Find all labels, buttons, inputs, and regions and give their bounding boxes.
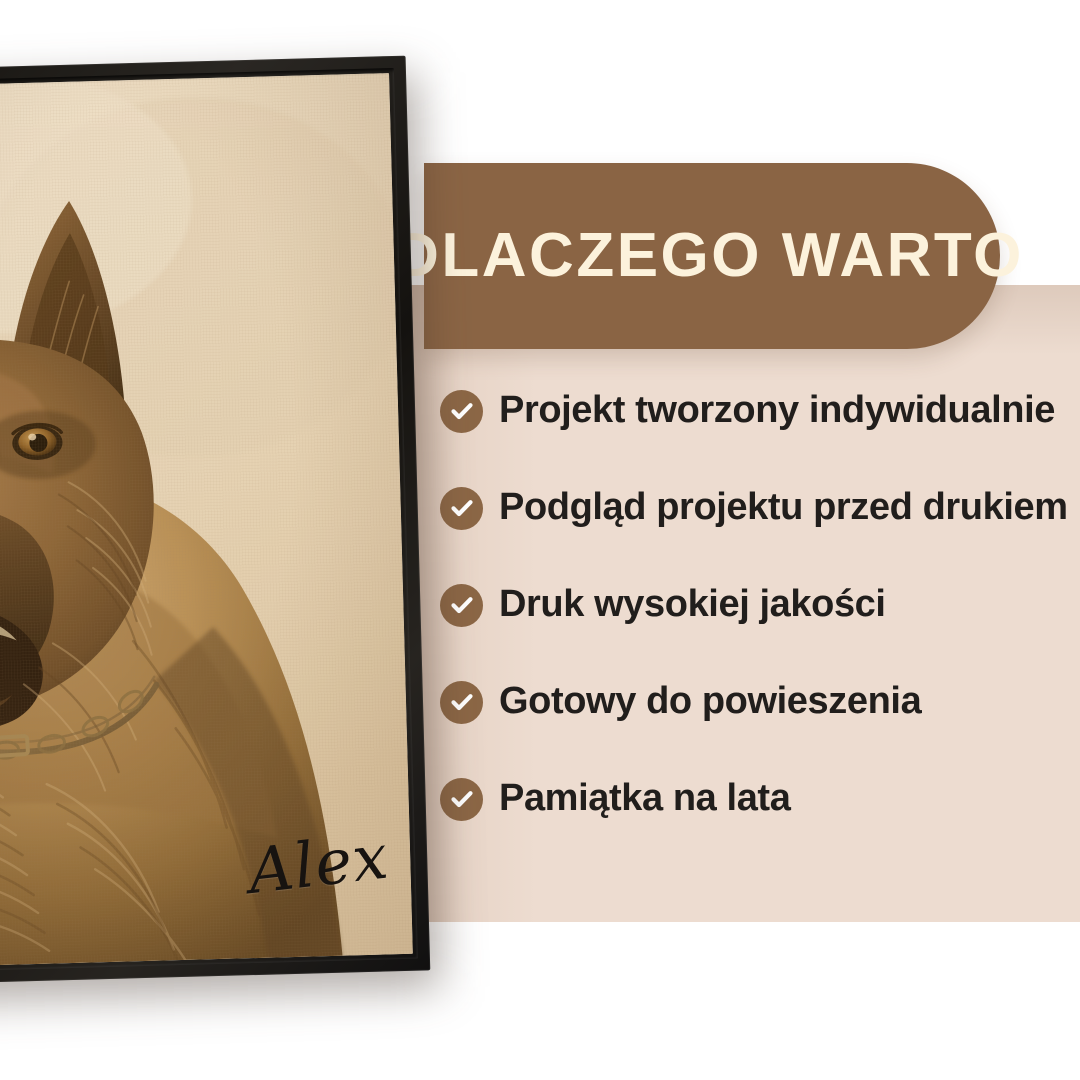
picture-frame: Alex [0, 56, 430, 985]
benefits-list: Projekt tworzony indywidualnie Podgląd p… [440, 386, 1070, 824]
list-item: Druk wysokiej jakości [440, 580, 1070, 630]
list-item: Gotowy do powieszenia [440, 677, 1070, 727]
benefit-label: Druk wysokiej jakości [499, 585, 886, 625]
check-circle-icon [440, 681, 483, 724]
page-title: DLACZEGO WARTO [376, 225, 1048, 287]
check-circle-icon [440, 584, 483, 627]
list-item: Podgląd projektu przed drukiem [440, 483, 1070, 533]
benefit-label: Pamiątka na lata [499, 779, 790, 819]
promo-graphic: DLACZEGO WARTO Projekt tworzony indywidu… [0, 0, 1080, 1080]
list-item: Pamiątka na lata [440, 774, 1070, 824]
benefit-label: Projekt tworzony indywidualnie [499, 391, 1055, 431]
check-circle-icon [440, 487, 483, 530]
framed-portrait: Alex [0, 56, 430, 985]
check-circle-icon [440, 390, 483, 433]
canvas-artwork: Alex [0, 73, 413, 967]
list-item: Projekt tworzony indywidualnie [440, 386, 1070, 436]
benefit-label: Gotowy do powieszenia [499, 682, 921, 722]
benefit-label: Podgląd projektu przed drukiem [499, 488, 1068, 528]
check-circle-icon [440, 778, 483, 821]
header-banner: DLACZEGO WARTO [424, 163, 1000, 349]
